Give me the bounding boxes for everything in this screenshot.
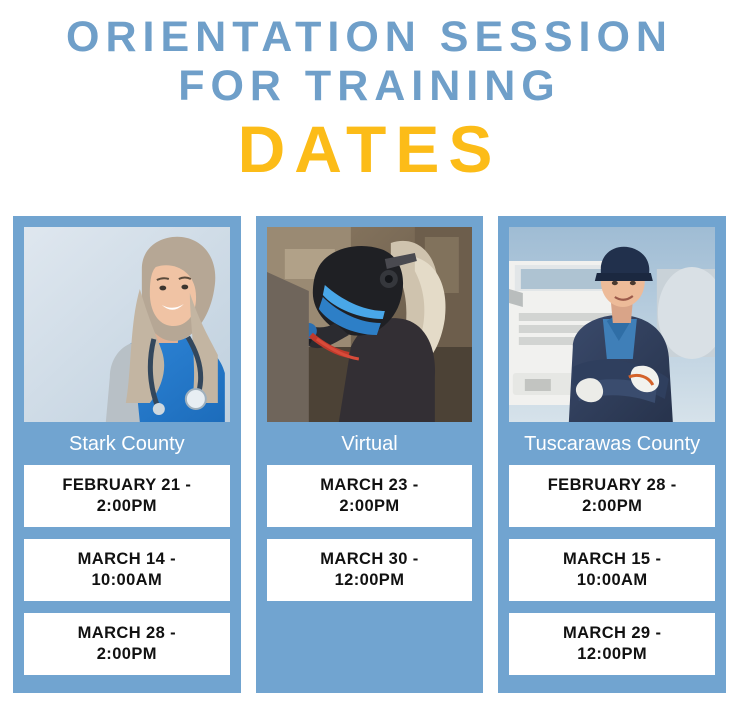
date-list: FEBRUARY 28 -2:00PM MARCH 15 -10:00AM MA… — [509, 465, 715, 675]
date-list: FEBRUARY 21 -2:00PM MARCH 14 -10:00AM MA… — [24, 465, 230, 675]
heading-accent-dates: DATES — [0, 114, 739, 184]
location-card-tuscarawas-county: Tuscarawas County FEBRUARY 28 -2:00PM MA… — [498, 216, 726, 693]
date-box[interactable]: MARCH 28 -2:00PM — [24, 613, 230, 675]
date-text: FEBRUARY 28 -2:00PM — [548, 475, 677, 517]
location-card-stark-county: Stark County FEBRUARY 21 -2:00PM MARCH 1… — [13, 216, 241, 693]
date-text: MARCH 23 -2:00PM — [320, 475, 418, 517]
card-label: Stark County — [24, 422, 230, 465]
location-cards: Stark County FEBRUARY 21 -2:00PM MARCH 1… — [13, 216, 726, 693]
date-box[interactable]: MARCH 14 -10:00AM — [24, 539, 230, 601]
location-card-virtual: Virtual MARCH 23 -2:00PM MARCH 30 -12:00… — [256, 216, 484, 693]
date-text: MARCH 14 -10:00AM — [78, 549, 176, 591]
date-text: FEBRUARY 21 -2:00PM — [62, 475, 191, 517]
heading-line-2: FOR TRAINING — [0, 63, 739, 110]
date-text: MARCH 29 -12:00PM — [563, 623, 661, 665]
date-box[interactable]: FEBRUARY 28 -2:00PM — [509, 465, 715, 527]
date-box[interactable]: FEBRUARY 21 -2:00PM — [24, 465, 230, 527]
date-box[interactable]: MARCH 23 -2:00PM — [267, 465, 473, 527]
date-text: MARCH 30 -12:00PM — [320, 549, 418, 591]
date-list: MARCH 23 -2:00PM MARCH 30 -12:00PM — [267, 465, 473, 601]
card-label: Virtual — [267, 422, 473, 465]
welder-photo — [267, 227, 473, 422]
date-box[interactable]: MARCH 30 -12:00PM — [267, 539, 473, 601]
poster-heading: ORIENTATION SESSION FOR TRAINING DATES — [0, 0, 739, 184]
card-label: Tuscarawas County — [509, 422, 715, 465]
date-text: MARCH 28 -2:00PM — [78, 623, 176, 665]
date-box[interactable]: MARCH 29 -12:00PM — [509, 613, 715, 675]
truck-driver-photo — [509, 227, 715, 422]
heading-line-1: ORIENTATION SESSION — [0, 14, 739, 61]
date-box[interactable]: MARCH 15 -10:00AM — [509, 539, 715, 601]
date-text: MARCH 15 -10:00AM — [563, 549, 661, 591]
healthcare-worker-photo — [24, 227, 230, 422]
orientation-dates-poster: ORIENTATION SESSION FOR TRAINING DATES — [0, 0, 739, 703]
